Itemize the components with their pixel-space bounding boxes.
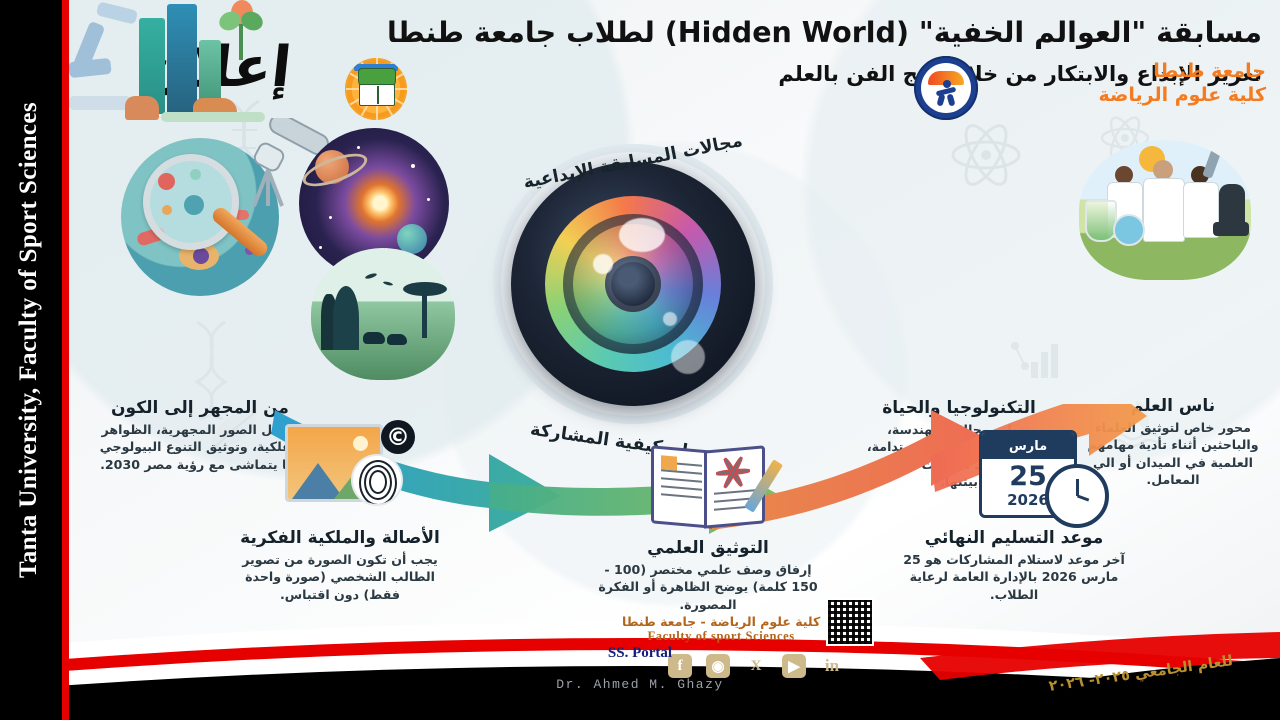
footer-org: كلية علوم الرياضة - جامعة طنطا Faculty o… bbox=[622, 614, 820, 644]
copyright-fingerprint-icon: © bbox=[267, 418, 417, 522]
footer-org-en: Faculty of sport Sciences bbox=[622, 629, 820, 644]
nature-illustration-icon bbox=[311, 248, 455, 380]
org-identity: جامعة طنطا كلية علوم الرياضة bbox=[1098, 60, 1266, 108]
copyright-symbol-icon: © bbox=[381, 420, 415, 454]
chart-doodle-icon-2 bbox=[1009, 332, 1063, 384]
scientists-illustration-icon bbox=[1079, 140, 1251, 280]
ss-portal-label[interactable]: SS. Portal bbox=[0, 645, 1280, 662]
footer-org-ar: كلية علوم الرياضة - جامعة طنطا bbox=[622, 614, 820, 629]
sidebar-red-stripe bbox=[62, 0, 69, 720]
condition-title: موعد التسليم النهائي bbox=[899, 528, 1129, 548]
tanta-university-logo-icon bbox=[345, 58, 407, 120]
open-book-atom-icon bbox=[649, 448, 767, 534]
qr-code[interactable] bbox=[826, 598, 874, 646]
calendar-clock-icon: مارس 25 2026 bbox=[969, 420, 1109, 530]
poster-root: Tanta University, Faculty of Sport Scien… bbox=[0, 0, 1280, 720]
condition-title: الأصالة والملكية الفكرية bbox=[225, 528, 455, 548]
fingerprint-icon bbox=[353, 456, 401, 504]
footer: كلية علوم الرياضة - جامعة طنطا Faculty o… bbox=[0, 612, 1280, 720]
org-faculty-label: كلية علوم الرياضة bbox=[1098, 84, 1266, 108]
calendar-month: مارس bbox=[982, 433, 1074, 459]
sport-sciences-faculty-logo-icon bbox=[914, 56, 978, 120]
condition-desc: إرفاق وصف علمي مختصر (100 - 150 كلمة) يو… bbox=[593, 561, 823, 613]
sidebar-rail: Tanta University, Faculty of Sport Scien… bbox=[0, 0, 58, 720]
condition-desc: يجب أن تكون الصورة من تصوير الطالب الشخص… bbox=[225, 551, 455, 603]
atom-doodle-icon bbox=[949, 118, 1023, 192]
condition-card-1: الأصالة والملكية الفكرية يجب أن تكون الص… bbox=[225, 528, 455, 603]
condition-desc: آخر موعد لاستلام المشاركات هو 25 مارس 20… bbox=[899, 551, 1129, 603]
condition-title: التوثيق العلمي bbox=[593, 538, 823, 558]
org-university-label: جامعة طنطا bbox=[1098, 60, 1266, 84]
page-title: مسابقة "العوالم الخفية" (Hidden World) ل… bbox=[362, 16, 1262, 49]
condition-card-3: موعد التسليم النهائي آخر موعد لاستلام ال… bbox=[899, 528, 1129, 603]
condition-card-2: التوثيق العلمي إرفاق وصف علمي مختصر (100… bbox=[593, 538, 823, 613]
arc-label-fields: مجالات المسابقة الإبداعية bbox=[463, 122, 803, 202]
sidebar-vertical-title: Tanta University, Faculty of Sport Scien… bbox=[0, 0, 58, 680]
clock-icon bbox=[1045, 464, 1109, 528]
